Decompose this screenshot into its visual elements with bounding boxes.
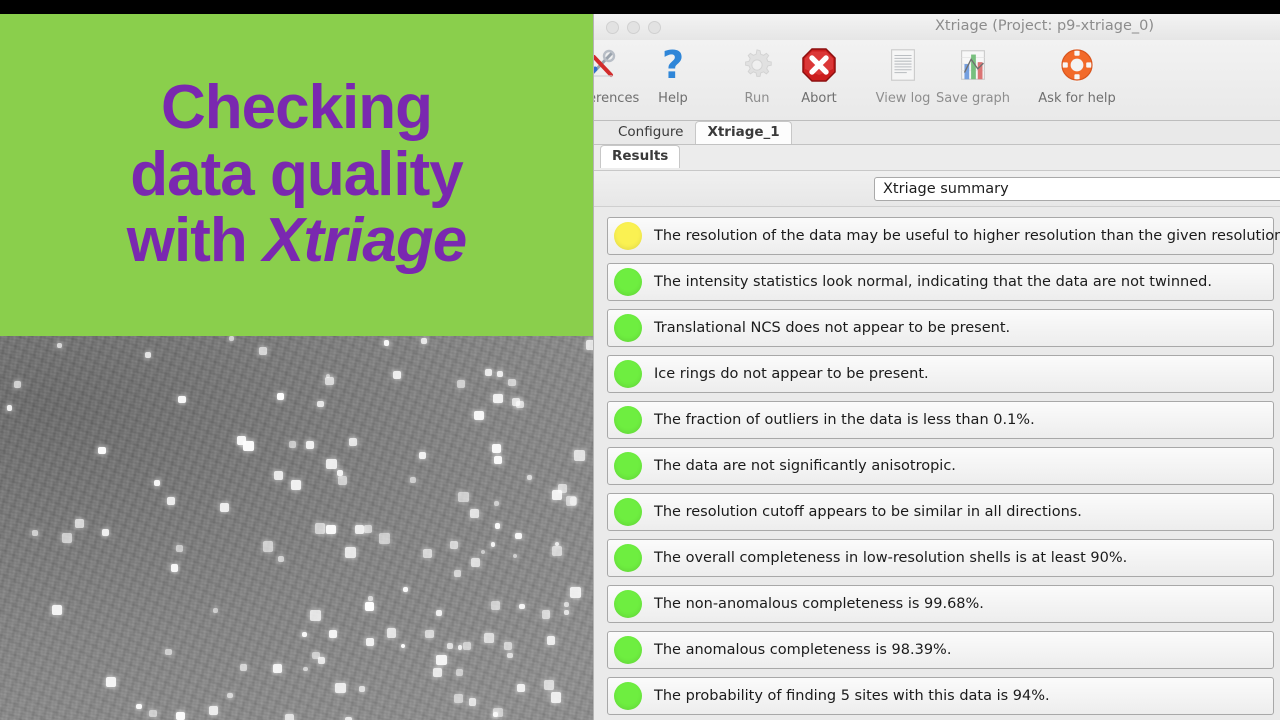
diffraction-spot [310, 610, 321, 621]
diffraction-spot [566, 496, 576, 506]
summary-combo-box[interactable]: Xtriage summary [874, 177, 1280, 201]
diffraction-spot [338, 476, 347, 485]
result-text: The non-anomalous completeness is 99.68%… [654, 596, 984, 612]
diffraction-spot [450, 541, 459, 550]
diffraction-spot [474, 411, 484, 421]
diffraction-spot [493, 394, 503, 404]
diffraction-spot [325, 377, 334, 386]
diffraction-spot [75, 519, 84, 528]
result-row[interactable]: Translational NCS does not appear to be … [607, 309, 1274, 347]
tab-xtriage-1[interactable]: Xtriage_1 [695, 121, 791, 144]
diffraction-spot [165, 649, 171, 655]
status-warning-icon [614, 222, 642, 250]
diffraction-spot [209, 706, 218, 715]
window-title: Xtriage (Project: p9-xtriage_0) [594, 18, 1280, 34]
diffraction-spot [326, 459, 336, 469]
status-ok-icon [614, 636, 642, 664]
diffraction-spot [454, 694, 463, 703]
tab-results[interactable]: Results [600, 145, 680, 168]
bar-chart-icon [930, 42, 1016, 88]
status-ok-icon [614, 544, 642, 572]
diffraction-spot [552, 490, 562, 500]
result-row[interactable]: The non-anomalous completeness is 99.68%… [607, 585, 1274, 623]
diffraction-spot [507, 653, 512, 658]
slide-title-card: Checking data quality with Xtriage [0, 14, 593, 336]
diffraction-spot [178, 396, 186, 404]
diffraction-spot [497, 371, 503, 377]
diffraction-spot [552, 546, 562, 556]
diffraction-spot [285, 714, 294, 720]
diffraction-spot [106, 677, 116, 687]
diffraction-spot [243, 441, 254, 452]
diffraction-spot [273, 664, 282, 673]
slide-title-xtriage: Xtriage [263, 206, 466, 275]
diffraction-spot [471, 558, 480, 567]
result-row[interactable]: The fraction of outliers in the data is … [607, 401, 1274, 439]
diffraction-spot [259, 347, 267, 355]
diffraction-spot [515, 533, 522, 540]
diffraction-spot [355, 525, 364, 534]
primary-tabstrip: ConfigureXtriage_1 [594, 121, 1280, 145]
diffraction-spot [403, 587, 408, 592]
diffraction-spot [410, 477, 416, 483]
toolbar-button-abort[interactable]: Abort [776, 42, 862, 106]
abort-octagon-x-icon [776, 42, 862, 88]
result-row[interactable]: The data are not significantly anisotrop… [607, 447, 1274, 485]
diffraction-spot [491, 601, 500, 610]
diffraction-spot [547, 636, 556, 645]
diffraction-spot [387, 628, 397, 638]
result-text: Translational NCS does not appear to be … [654, 320, 1010, 336]
diffraction-spot [317, 401, 324, 408]
letterbox-bar [0, 0, 1280, 14]
result-row[interactable]: The intensity statistics look normal, in… [607, 263, 1274, 301]
diffraction-spot [458, 492, 468, 502]
lifebuoy-icon [1034, 42, 1120, 88]
diffraction-spot [277, 393, 284, 400]
diffraction-spot [379, 533, 390, 544]
diffraction-spot [494, 501, 499, 506]
diffraction-spot [263, 541, 273, 551]
diffraction-spot [176, 712, 184, 720]
diffraction-spot [458, 645, 462, 649]
result-text: The probability of finding 5 sites with … [654, 688, 1050, 704]
diffraction-spot [564, 610, 568, 614]
toolbar-button-label: Help [630, 91, 716, 106]
diffraction-spot [302, 632, 307, 637]
xtriage-window: Xtriage (Project: p9-xtriage_0) Preferen… [593, 14, 1280, 720]
diffraction-spot [274, 471, 283, 480]
diffraction-spot [149, 710, 157, 718]
result-text: The intensity statistics look normal, in… [654, 274, 1212, 290]
status-ok-icon [614, 360, 642, 388]
diffraction-spot [544, 680, 554, 690]
status-ok-icon [614, 452, 642, 480]
diffraction-spot [326, 525, 335, 534]
diffraction-spot [456, 669, 463, 676]
diffraction-spot [303, 667, 307, 671]
diffraction-spot [171, 564, 179, 572]
screen: Checking data quality with Xtriage Xtria… [0, 0, 1280, 720]
diffraction-spot [315, 523, 325, 533]
summary-selector-row: Xtriage summary [594, 171, 1280, 207]
diffraction-spot [425, 630, 434, 639]
status-ok-icon [614, 406, 642, 434]
diffraction-spot [457, 380, 465, 388]
result-row[interactable]: The resolution of the data may be useful… [607, 217, 1274, 255]
diffraction-spot [542, 610, 551, 619]
diffraction-spot [337, 470, 343, 476]
slide-title-line-3: with Xtriage [127, 208, 466, 275]
diffraction-spot [52, 605, 62, 615]
result-text: Ice rings do not appear to be present. [654, 366, 929, 382]
diffraction-spot [504, 642, 512, 650]
diffraction-spot [364, 525, 373, 534]
slide-title-with: with [127, 206, 263, 275]
status-ok-icon [614, 268, 642, 296]
toolbar-button-label: Save graph [930, 91, 1016, 106]
diffraction-spot [335, 683, 345, 693]
diffraction-spot [32, 530, 38, 536]
diffraction-spot [329, 630, 338, 639]
diffraction-spot [495, 523, 501, 529]
diffraction-spot [213, 608, 217, 612]
status-ok-icon [614, 498, 642, 526]
diffraction-spot [98, 447, 106, 455]
diffraction-spot [551, 692, 561, 702]
diffraction-spot [454, 570, 461, 577]
diffraction-spot [421, 338, 427, 344]
diffraction-spot [384, 340, 389, 345]
diffraction-spot [512, 398, 520, 406]
diffraction-spot [154, 480, 160, 486]
status-ok-icon [614, 314, 642, 342]
diffraction-spot [517, 684, 525, 692]
diffraction-spot [345, 717, 351, 720]
diffraction-spot [176, 545, 184, 553]
result-row[interactable]: The resolution cutoff appears to be simi… [607, 493, 1274, 531]
diffraction-spot [574, 450, 585, 461]
results-list: The resolution of the data may be useful… [594, 207, 1280, 720]
result-row[interactable]: The overall completeness in low-resoluti… [607, 539, 1274, 577]
diffraction-spot [463, 642, 471, 650]
result-text: The overall completeness in low-resoluti… [654, 550, 1127, 566]
diffraction-spot [102, 529, 109, 536]
diffraction-spot [240, 664, 247, 671]
diffraction-image [0, 336, 593, 720]
diffraction-spot [167, 497, 175, 505]
main-toolbar: Preferences ?Help Run Abort View log Sa [594, 40, 1280, 121]
diffraction-spot [423, 549, 432, 558]
diffraction-spot [57, 343, 62, 348]
result-text: The resolution cutoff appears to be simi… [654, 504, 1082, 520]
diffraction-spot [365, 602, 374, 611]
toolbar-button-help[interactable]: ?Help [630, 42, 716, 106]
diffraction-spot [359, 686, 365, 692]
question-mark-icon: ? [630, 42, 716, 88]
result-row[interactable]: The probability of finding 5 sites with … [607, 677, 1274, 715]
diffraction-spot [419, 452, 426, 459]
result-text: The fraction of outliers in the data is … [654, 412, 1035, 428]
diffraction-spot [291, 480, 302, 491]
slide-left-pane: Checking data quality with Xtriage [0, 14, 593, 720]
diffraction-spot [278, 556, 284, 562]
diffraction-spot [145, 352, 151, 358]
diffraction-spot [227, 693, 232, 698]
toolbar-button-ask-for-help[interactable]: Ask for help [1034, 42, 1120, 106]
secondary-tabstrip: Results [594, 145, 1280, 171]
diffraction-spot [318, 657, 324, 663]
diffraction-spot [366, 638, 374, 646]
result-text: The resolution of the data may be useful… [654, 228, 1280, 244]
svg-text:?: ? [662, 45, 684, 85]
diffraction-spot [494, 456, 502, 464]
diffraction-spot [519, 604, 524, 609]
status-ok-icon [614, 590, 642, 618]
diffraction-spot [436, 655, 446, 665]
diffraction-spot [289, 441, 296, 448]
diffraction-spot [447, 643, 453, 649]
diffraction-spot [470, 509, 479, 518]
diffraction-spot [485, 369, 492, 376]
diffraction-spot [433, 668, 442, 677]
toolbar-button-save-graph[interactable]: Save graph [930, 42, 1016, 106]
diffraction-spot [492, 444, 501, 453]
toolbar-button-label: Ask for help [1034, 91, 1120, 106]
diffraction-spot [136, 704, 141, 709]
diffraction-spot [62, 533, 73, 544]
result-row[interactable]: Ice rings do not appear to be present. [607, 355, 1274, 393]
diffraction-spot [393, 371, 401, 379]
diffraction-spot [508, 379, 515, 386]
slide-title-line-1: Checking [161, 75, 432, 142]
toolbar-button-label: Abort [776, 91, 862, 106]
diffraction-spot [469, 698, 477, 706]
diffraction-spot [345, 547, 356, 558]
result-text: The anomalous completeness is 98.39%. [654, 642, 951, 658]
window-titlebar: Xtriage (Project: p9-xtriage_0) [594, 14, 1280, 40]
diffraction-spot [491, 542, 496, 547]
diffraction-spot [7, 405, 12, 410]
tab-configure[interactable]: Configure [606, 121, 695, 144]
diffraction-spot [436, 610, 443, 617]
diffraction-spot [493, 708, 503, 718]
diffraction-spot [570, 587, 581, 598]
result-text: The data are not significantly anisotrop… [654, 458, 956, 474]
diffraction-spot [14, 381, 21, 388]
result-row[interactable]: The anomalous completeness is 98.39%. [607, 631, 1274, 669]
diffraction-spot [349, 438, 358, 447]
diffraction-spot [481, 550, 485, 554]
status-ok-icon [614, 682, 642, 710]
diffraction-spot [484, 633, 494, 643]
slide-title-line-2: data quality [130, 142, 463, 209]
diffraction-noise-layer-2 [0, 336, 593, 720]
diffraction-spot [220, 503, 229, 512]
diffraction-spot [306, 441, 314, 449]
